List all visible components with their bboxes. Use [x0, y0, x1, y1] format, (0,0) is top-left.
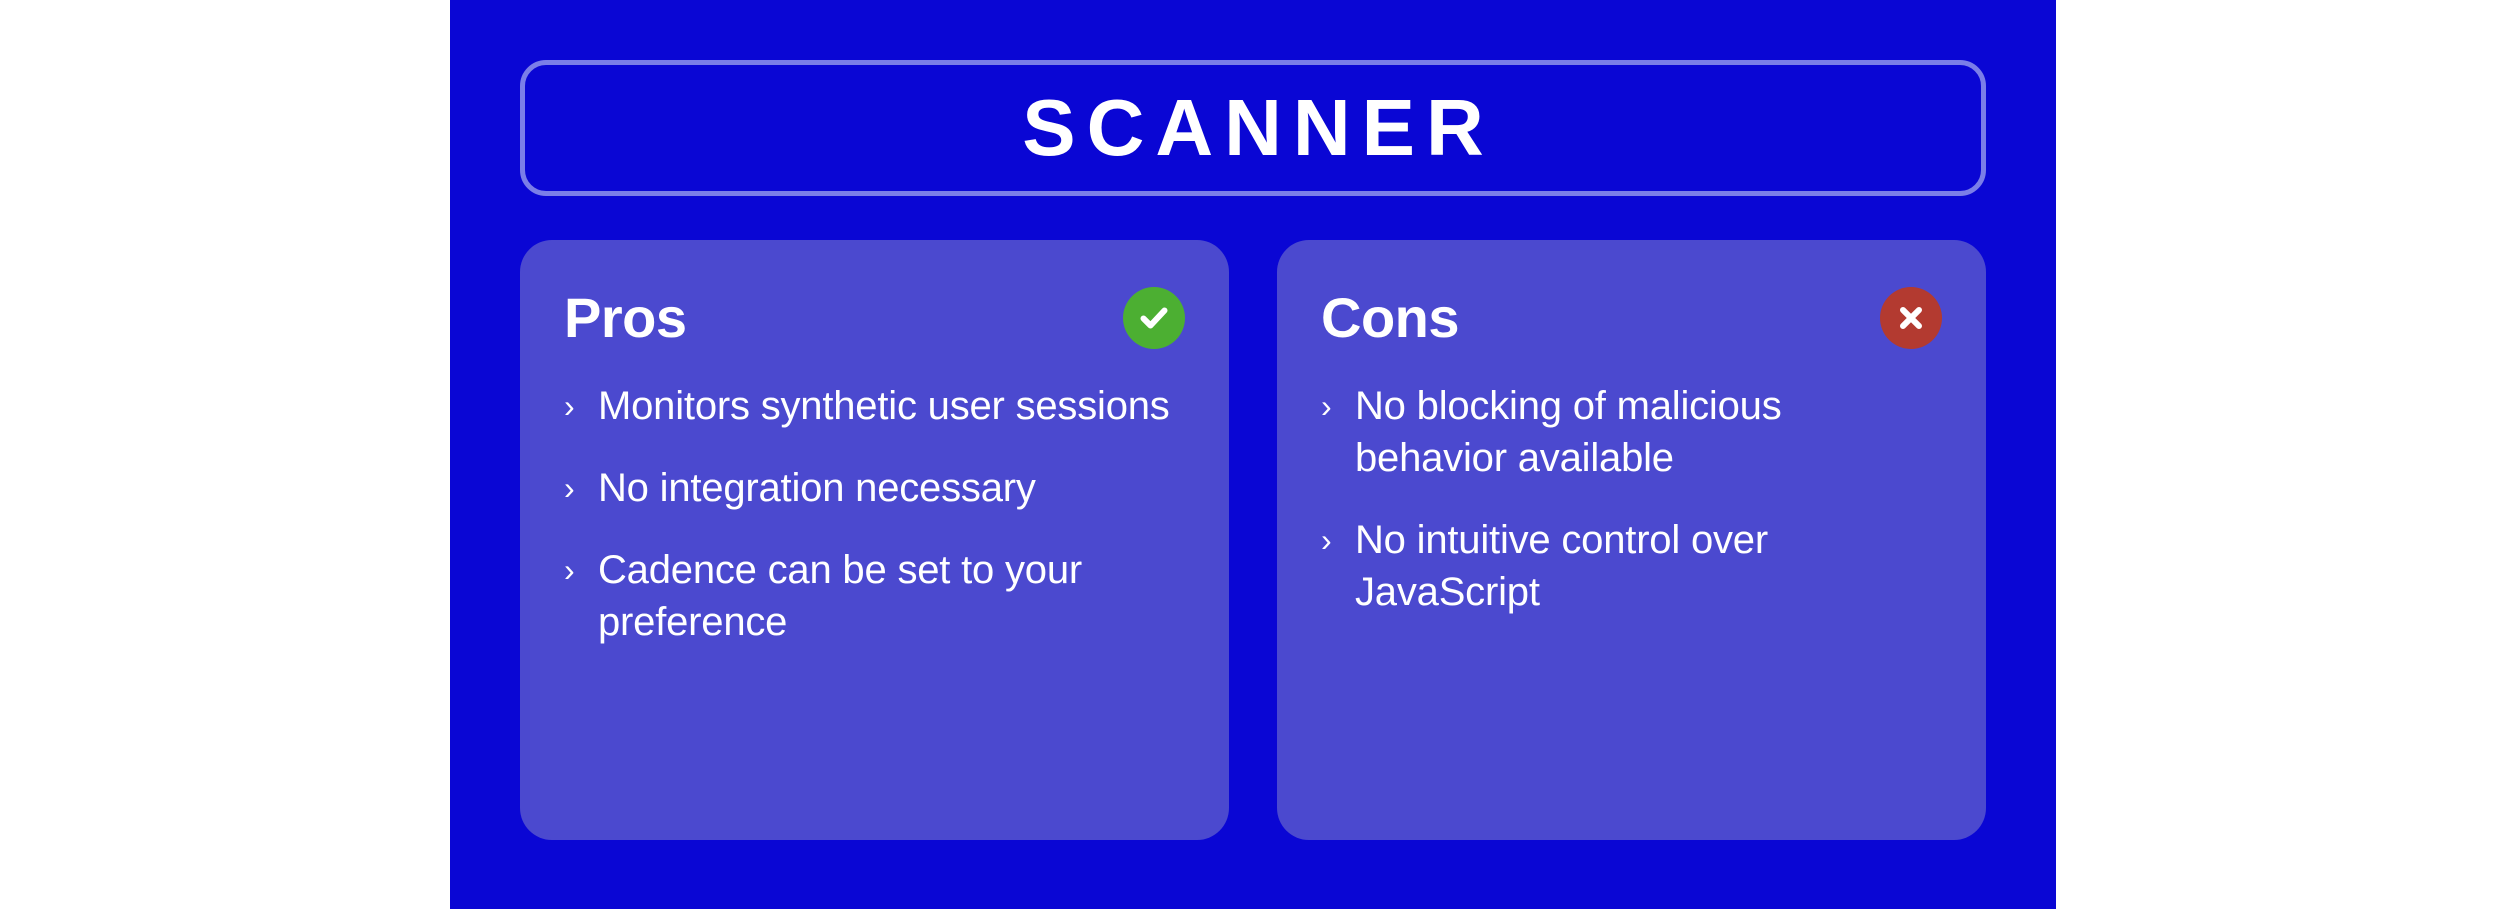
list-item-label: Monitors synthetic user sessions	[598, 380, 1170, 432]
slide-root: SCANNER Pros › Monitors synthetic user	[0, 0, 2503, 909]
cons-card-header: Cons	[1321, 280, 1942, 356]
list-item-label: No integration necessary	[598, 462, 1036, 514]
list-item-label: Cadence can be set to your preference	[598, 544, 1185, 648]
chevron-right-icon: ›	[564, 380, 582, 432]
pros-card: Pros › Monitors synthetic user sessions …	[520, 240, 1229, 840]
list-item: › Cadence can be set to your preference	[564, 544, 1185, 648]
chevron-right-icon: ›	[1321, 380, 1339, 432]
cons-card: Cons › No blocking of malicious behavior…	[1277, 240, 1986, 840]
chevron-right-icon: ›	[1321, 514, 1339, 566]
cons-card-title: Cons	[1321, 290, 1459, 346]
chevron-right-icon: ›	[564, 544, 582, 596]
page-title: SCANNER	[1011, 88, 1495, 168]
slide-stage: SCANNER Pros › Monitors synthetic user	[450, 0, 2056, 909]
list-item: › No blocking of malicious behavior avai…	[1321, 380, 1942, 484]
chevron-right-icon: ›	[564, 462, 582, 514]
x-circle-icon	[1880, 287, 1942, 349]
pros-card-header: Pros	[564, 280, 1185, 356]
list-item: › Monitors synthetic user sessions	[564, 380, 1185, 432]
list-item-label: No blocking of malicious behavior availa…	[1355, 380, 1942, 484]
list-item: › No intuitive control over JavaScript	[1321, 514, 1942, 618]
comparison-cards: Pros › Monitors synthetic user sessions …	[520, 240, 1986, 840]
list-item: › No integration necessary	[564, 462, 1185, 514]
pros-card-title: Pros	[564, 290, 687, 346]
cons-bullet-list: › No blocking of malicious behavior avai…	[1321, 380, 1942, 618]
pros-bullet-list: › Monitors synthetic user sessions › No …	[564, 380, 1185, 648]
list-item-label: No intuitive control over JavaScript	[1355, 514, 1942, 618]
check-circle-icon	[1123, 287, 1185, 349]
title-plate: SCANNER	[520, 60, 1986, 196]
